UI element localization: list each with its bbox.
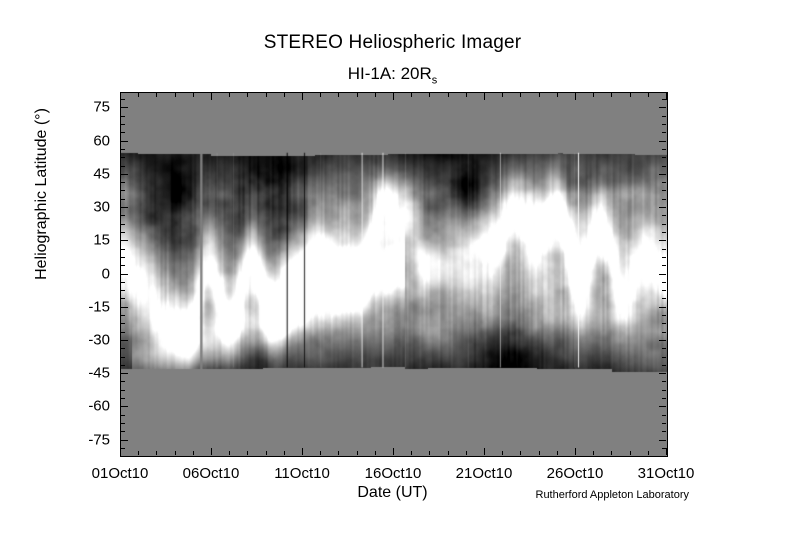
y-tick-label: -30 [58,332,110,349]
chart-subtitle: HI-1A: 20Rs [0,64,785,86]
x-tick-minor [466,451,467,455]
y-tick-label: -45 [58,365,110,382]
y-tick-minor-right [662,190,666,191]
y-tick-major-right [659,340,666,341]
x-tick-minor [411,451,412,455]
y-tick-minor-right [662,381,666,382]
y-tick-minor [121,282,125,283]
y-tick-major [121,340,128,341]
x-tick-minor-top [193,93,194,97]
x-tick-minor-top [284,93,285,97]
y-tick-minor-right [662,357,666,358]
x-tick-minor [375,451,376,455]
x-tick-minor-top [138,93,139,97]
x-tick-major [211,448,212,455]
y-tick-minor [121,332,125,333]
x-tick-minor-top [266,93,267,97]
y-tick-minor [121,265,125,266]
y-tick-label: -75 [58,432,110,449]
y-tick-minor [121,415,125,416]
y-tick-minor-right [662,257,666,258]
y-tick-minor-right [662,298,666,299]
y-tick-major [121,107,128,108]
y-tick-minor-right [662,390,666,391]
x-tick-minor-top [539,93,540,97]
x-tick-minor [520,451,521,455]
y-axis-label: Heliographic Latitude (°) [33,44,51,344]
x-tick-minor-top [611,93,612,97]
plot-area [120,92,668,457]
y-tick-minor [121,149,125,150]
y-tick-minor [121,381,125,382]
y-tick-minor-right [662,224,666,225]
x-tick-minor-top [375,93,376,97]
y-tick-minor [121,116,125,117]
x-tick-minor-top [411,93,412,97]
y-tick-minor-right [662,332,666,333]
x-tick-minor [320,451,321,455]
y-tick-minor [121,290,125,291]
x-tick-minor [175,451,176,455]
y-tick-minor [121,365,125,366]
y-tick-major [121,406,128,407]
y-tick-minor-right [662,431,666,432]
x-tick-minor [229,451,230,455]
x-tick-minor-top [156,93,157,97]
y-tick-minor [121,390,125,391]
y-tick-minor [121,257,125,258]
y-tick-minor-right [662,232,666,233]
x-tick-label: 11Oct10 [274,465,330,482]
y-tick-label: 60 [58,133,110,150]
x-tick-minor [247,451,248,455]
y-tick-major-right [659,274,666,275]
y-tick-minor [121,215,125,216]
y-tick-major [121,240,128,241]
y-tick-minor-right [662,182,666,183]
chart-subtitle-subscript: s [432,74,438,86]
x-tick-label: 21Oct10 [456,465,513,482]
y-tick-minor [121,199,125,200]
x-tick-minor [557,451,558,455]
x-tick-minor [448,451,449,455]
x-tick-minor-top [175,93,176,97]
y-tick-minor [121,423,125,424]
y-tick-minor-right [662,315,666,316]
y-tick-major [121,440,128,441]
y-tick-minor-right [662,398,666,399]
x-tick-major-top [302,93,303,100]
y-tick-minor [121,348,125,349]
x-tick-minor-top [557,93,558,97]
x-tick-label: 16Oct10 [365,465,422,482]
x-tick-minor [611,451,612,455]
x-tick-minor-top [320,93,321,97]
y-tick-major [121,274,128,275]
y-tick-label: -15 [58,299,110,316]
y-tick-minor-right [662,149,666,150]
x-tick-minor-top [229,93,230,97]
x-tick-minor [266,451,267,455]
y-tick-label: -60 [58,398,110,415]
x-tick-major-top [666,93,667,100]
y-tick-major-right [659,240,666,241]
x-tick-minor-top [520,93,521,97]
y-tick-major-right [659,174,666,175]
x-tick-major-top [484,93,485,100]
y-tick-minor [121,166,125,167]
y-tick-minor-right [662,290,666,291]
x-tick-major [666,448,667,455]
x-tick-major-top [120,93,121,100]
y-tick-label: 15 [58,232,110,249]
y-tick-minor [121,224,125,225]
x-tick-major-top [575,93,576,100]
x-tick-minor [284,451,285,455]
jmap-heatmap-image [121,93,667,456]
y-tick-major [121,207,128,208]
x-tick-minor [648,451,649,455]
y-tick-minor-right [662,116,666,117]
y-tick-minor-right [662,282,666,283]
x-tick-label: 06Oct10 [183,465,240,482]
y-tick-major [121,141,128,142]
y-tick-minor-right [662,365,666,366]
y-tick-minor [121,232,125,233]
x-tick-minor [429,451,430,455]
x-tick-minor-top [630,93,631,97]
x-tick-minor-top [502,93,503,97]
x-tick-minor-top [429,93,430,97]
x-tick-minor-top [466,93,467,97]
y-tick-minor-right [662,124,666,125]
x-tick-minor-top [593,93,594,97]
y-tick-minor [121,182,125,183]
x-tick-minor [593,451,594,455]
x-tick-label: 26Oct10 [547,465,604,482]
y-tick-major-right [659,440,666,441]
x-tick-major [575,448,576,455]
y-tick-major [121,174,128,175]
x-tick-minor-top [357,93,358,97]
y-tick-minor [121,99,125,100]
y-tick-major [121,307,128,308]
y-tick-minor-right [662,265,666,266]
x-tick-minor [193,451,194,455]
x-tick-minor-top [448,93,449,97]
x-tick-minor [156,451,157,455]
y-tick-minor-right [662,132,666,133]
x-tick-label: 01Oct10 [92,465,149,482]
y-tick-minor-right [662,166,666,167]
y-tick-minor [121,398,125,399]
y-tick-major-right [659,141,666,142]
x-tick-minor [502,451,503,455]
y-tick-minor [121,157,125,158]
y-tick-minor-right [662,423,666,424]
y-tick-minor [121,298,125,299]
x-tick-minor [138,451,139,455]
y-tick-minor [121,315,125,316]
y-tick-minor [121,249,125,250]
y-tick-minor-right [662,157,666,158]
x-tick-minor-top [648,93,649,97]
y-tick-major-right [659,207,666,208]
figure-canvas: STEREO Heliospheric Imager HI-1A: 20Rs H… [0,0,785,538]
x-tick-major [302,448,303,455]
y-tick-major-right [659,107,666,108]
x-tick-minor [539,451,540,455]
y-tick-label: 0 [58,266,110,283]
x-tick-minor-top [338,93,339,97]
credit-label: Rutherford Appleton Laboratory [536,489,690,501]
x-tick-minor [357,451,358,455]
x-tick-major [484,448,485,455]
y-tick-minor [121,323,125,324]
page-title: STEREO Heliospheric Imager [0,32,785,54]
y-tick-major-right [659,373,666,374]
y-tick-label: 45 [58,166,110,183]
x-tick-minor [630,451,631,455]
y-tick-minor-right [662,215,666,216]
y-tick-minor-right [662,415,666,416]
y-tick-major [121,373,128,374]
y-tick-major-right [659,307,666,308]
x-tick-label: 31Oct10 [638,465,695,482]
y-tick-minor [121,132,125,133]
x-tick-major [393,448,394,455]
x-tick-major [120,448,121,455]
y-axis-label-text: Heliographic Latitude (°) [33,108,50,280]
y-tick-minor [121,431,125,432]
y-tick-major-right [659,406,666,407]
y-tick-minor [121,357,125,358]
y-tick-minor-right [662,199,666,200]
y-tick-minor-right [662,323,666,324]
chart-subtitle-main: HI-1A: 20R [348,64,432,83]
y-tick-label: 75 [58,99,110,116]
y-tick-minor [121,124,125,125]
y-tick-minor-right [662,348,666,349]
x-tick-minor [338,451,339,455]
y-tick-minor [121,190,125,191]
x-tick-major-top [211,93,212,100]
y-tick-minor-right [662,249,666,250]
y-tick-label: 30 [58,199,110,216]
x-tick-major-top [393,93,394,100]
y-tick-minor [121,448,125,449]
x-tick-minor-top [247,93,248,97]
